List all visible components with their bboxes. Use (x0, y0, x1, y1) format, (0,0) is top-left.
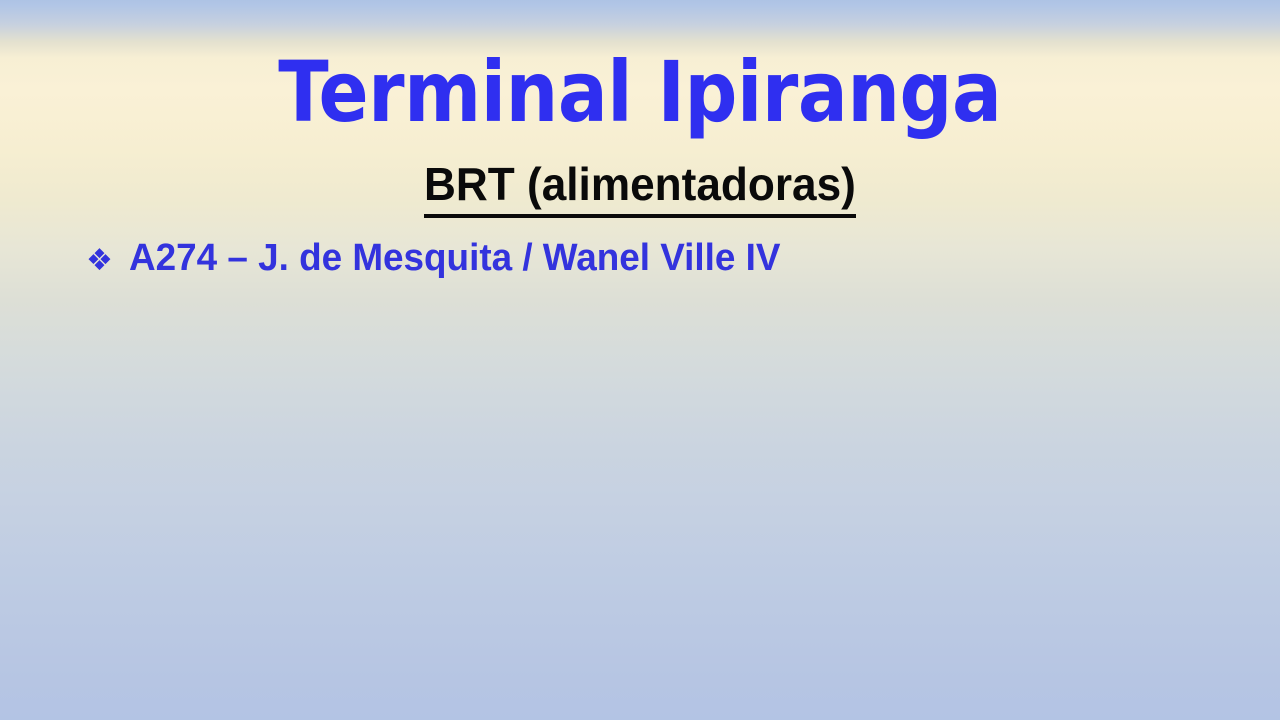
four-diamond-bullet-icon: ❖ (86, 235, 113, 287)
presentation-slide: Terminal Ipiranga BRT (alimentadoras) ❖ … (0, 0, 1280, 720)
subtitle-container: BRT (alimentadoras) (0, 155, 1280, 218)
list-item: ❖ A274 – J. de Mesquita / Wanel Ville IV (86, 232, 1226, 287)
page-subtitle: BRT (alimentadoras) (424, 155, 856, 218)
route-label: A274 – J. de Mesquita / Wanel Ville IV (129, 232, 780, 284)
route-list: ❖ A274 – J. de Mesquita / Wanel Ville IV (86, 232, 1226, 297)
page-title: Terminal Ipiranga (278, 44, 1001, 140)
title-container: Terminal Ipiranga (0, 44, 1280, 140)
